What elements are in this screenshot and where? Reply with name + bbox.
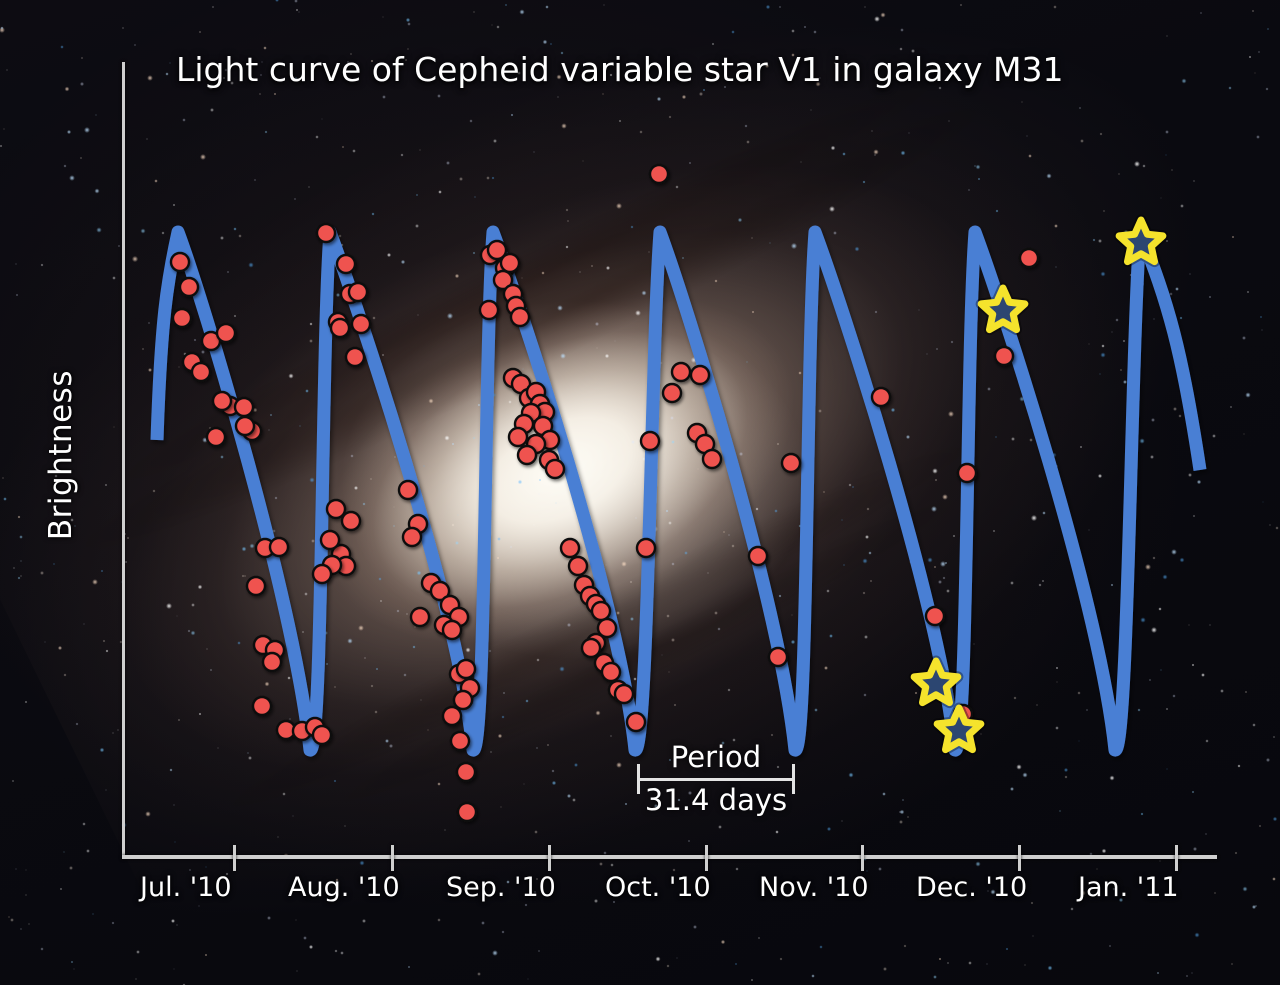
data-point [872, 388, 890, 406]
star-marker [914, 661, 958, 703]
data-point [253, 697, 271, 715]
data-point [592, 602, 610, 620]
data-point [546, 460, 564, 478]
data-point [342, 512, 360, 530]
data-point [511, 308, 529, 326]
data-point [582, 639, 600, 657]
data-point [561, 539, 579, 557]
data-point [171, 253, 189, 271]
data-point [995, 347, 1013, 365]
data-point [349, 283, 367, 301]
data-point [703, 450, 721, 468]
star-marker [981, 288, 1025, 330]
data-point [337, 255, 355, 273]
data-point [317, 224, 335, 242]
data-point [263, 653, 281, 671]
data-point [958, 464, 976, 482]
data-point [443, 707, 461, 725]
data-point [403, 528, 421, 546]
data-point [602, 663, 620, 681]
light-curve-figure: Light curve of Cepheid variable star V1 … [0, 0, 1280, 985]
data-point [749, 547, 767, 565]
data-point [782, 454, 800, 472]
data-point [480, 301, 498, 319]
data-point [501, 254, 519, 272]
data-point [346, 348, 364, 366]
data-point [457, 660, 475, 678]
data-point [627, 713, 645, 731]
data-point [247, 577, 265, 595]
data-point [443, 621, 461, 639]
star-marker [1119, 220, 1163, 262]
data-point [236, 417, 254, 435]
data-point [313, 726, 331, 744]
data-point [926, 607, 944, 625]
data-point [313, 565, 331, 583]
data-point [458, 803, 476, 821]
plot-canvas [0, 0, 1280, 985]
data-point [451, 732, 469, 750]
data-point [1020, 249, 1038, 267]
data-point [672, 363, 690, 381]
data-point [663, 384, 681, 402]
data-point [650, 165, 668, 183]
data-point [217, 324, 235, 342]
light-curve-line [157, 232, 1200, 750]
data-point [615, 685, 633, 703]
data-point [454, 691, 472, 709]
data-point [457, 763, 475, 781]
data-point [180, 278, 198, 296]
period-bracket-bar [637, 778, 795, 781]
data-point [192, 363, 210, 381]
data-point [518, 446, 536, 464]
data-point [637, 539, 655, 557]
period-value: 31.4 days [605, 783, 827, 817]
data-point [352, 315, 370, 333]
data-point [509, 428, 527, 446]
data-point [411, 608, 429, 626]
data-point [235, 398, 253, 416]
data-point [327, 500, 345, 518]
data-point [207, 428, 225, 446]
data-point [173, 309, 191, 327]
data-point [569, 557, 587, 575]
light-curve-path [157, 232, 1200, 750]
observation-points [171, 165, 1038, 821]
data-point [641, 432, 659, 450]
period-label: Period [637, 740, 795, 774]
data-point [321, 531, 339, 549]
data-point [399, 481, 417, 499]
data-point [213, 392, 231, 410]
data-point [691, 366, 709, 384]
data-point [769, 648, 787, 666]
data-point [270, 538, 288, 556]
data-point [331, 319, 349, 337]
